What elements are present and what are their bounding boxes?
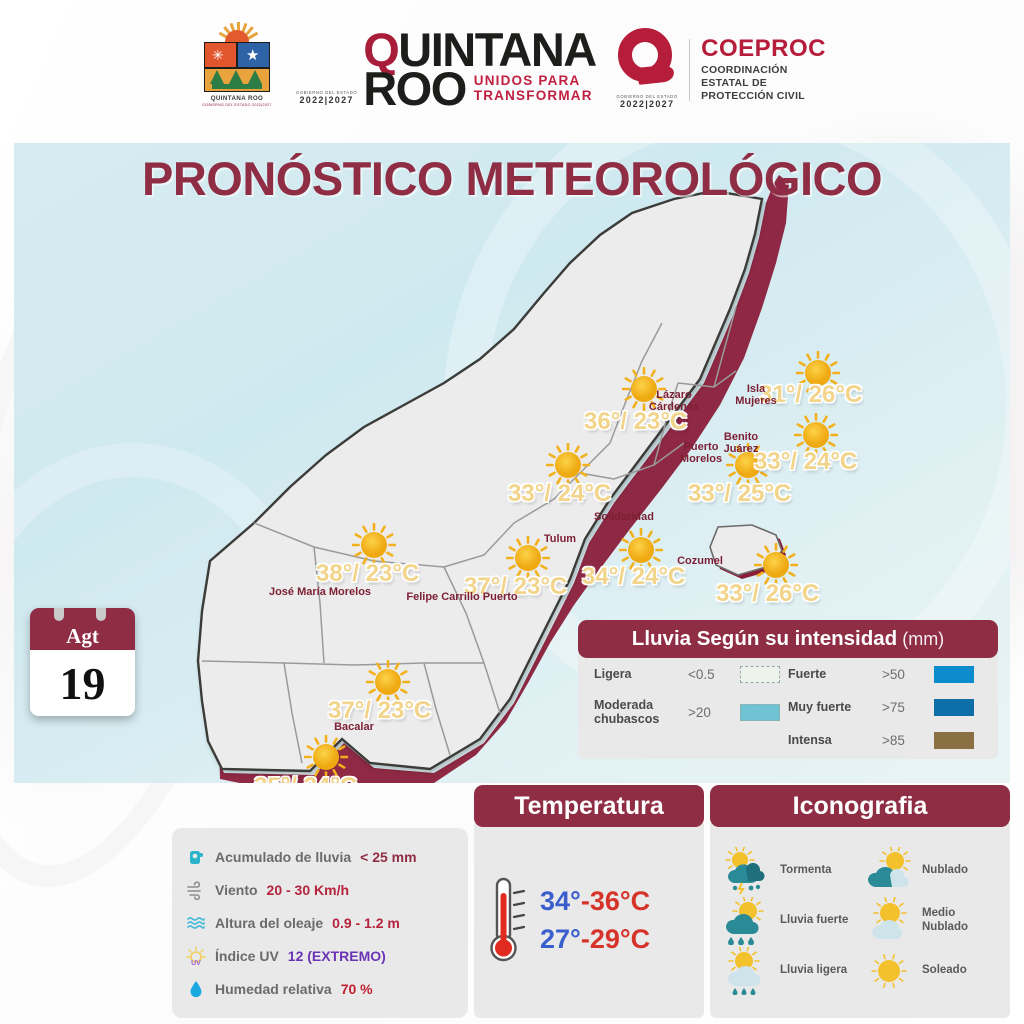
iconography-label: Lluvia fuerte [780, 914, 848, 927]
stat-label: Humedad relativa [215, 981, 332, 997]
wordmark-tag1: UNIDOS PARA [474, 74, 593, 89]
temperature-label: 33°/ 24°C [508, 480, 611, 508]
iconography-item: MedioNublado [862, 897, 1000, 945]
rain-legend-row: Moderadachubascos >20 [594, 699, 788, 727]
temp-row1-sep: - [581, 886, 590, 916]
map-city-label: IslaMujeres [735, 383, 777, 408]
rain-legend-body: Ligera <0.5 Moderadachubascos >20 Fuerte… [578, 654, 998, 759]
iconography-item: Soleado [862, 947, 1000, 995]
quintana-roo-state-seal: ✳ ★ QUINTANA ROO GOBIERNO DEL ESTADO 202… [198, 22, 276, 118]
storm-icon [720, 847, 774, 895]
stat-label: Viento [215, 882, 258, 898]
temperature-label: 34°/ 24°C [582, 563, 685, 591]
temp-row2-low: 27° [540, 924, 581, 954]
thermometer-icon [486, 875, 530, 967]
iconography-panel: Iconografia Tormenta Nublado Lluvia fuer… [710, 785, 1010, 1018]
coeproc-title: COEPROC [701, 37, 826, 61]
stat-value: 20 - 30 Km/h [267, 882, 349, 898]
rain-color-swatch [934, 732, 974, 749]
quintana-roo-wordmark: GOBIERNO DEL ESTADO 2022|2027 QQUINTANAU… [296, 31, 596, 108]
seal-sun-icon [213, 22, 261, 44]
iconography-label: Tormenta [780, 864, 832, 877]
rain-color-swatch [934, 699, 974, 716]
page-title: PRONÓSTICO METEOROLÓGICO [14, 151, 1010, 206]
waves-icon [186, 913, 206, 933]
heavy-rain-icon [720, 897, 774, 945]
trees-icon [210, 70, 262, 84]
city-name: Solidaridad [594, 511, 654, 523]
calendar-ring-right [96, 608, 106, 621]
rain-color-swatch [934, 666, 974, 683]
stat-value: 70 % [341, 981, 373, 997]
rain-level-value: >75 [882, 700, 926, 715]
wind-icon [186, 880, 206, 900]
rain-legend-title: Lluvia Según su intensidad [632, 627, 897, 651]
conch-icon: ✳ [212, 48, 224, 62]
rain-gauge-icon [186, 847, 206, 867]
temperature-label: 35°/ 24°C [254, 773, 357, 783]
header-divider [689, 39, 690, 101]
stat-row: Humedad relativa 70 % [186, 979, 454, 999]
city-name: Cozumel [677, 555, 723, 567]
iconography-label: Soleado [922, 964, 967, 977]
coeproc-q-icon [616, 28, 678, 94]
iconography-label: MedioNublado [922, 907, 968, 933]
coeproc-line1: COORDINACIÓN [701, 64, 826, 77]
map-city-label: Bacalar [334, 721, 374, 733]
stat-row: UV Índice UV 12 (EXTREMO) [186, 946, 454, 966]
rain-color-swatch [740, 666, 780, 683]
temperature-label: 33°/ 26°C [716, 580, 819, 608]
rain-level-label: Muy fuerte [788, 701, 874, 715]
iconography-item: Nublado [862, 847, 1000, 895]
stat-label: Altura del oleaje [215, 915, 323, 931]
temperature-row-2: 27°-29°C [540, 924, 650, 955]
city-name-line1: Isla [735, 383, 777, 395]
gov-stamp-years: 2022|2027 [299, 95, 353, 105]
city-name-line2: Morelos [680, 453, 722, 465]
iconography-header: Iconografia [710, 785, 1010, 827]
rain-level-label: Fuerte [788, 668, 874, 682]
city-name-line1: Benito [724, 431, 759, 443]
rain-legend-header: Lluvia Según su intensidad (mm) [578, 620, 998, 658]
map-city-label: PuertoMorelos [680, 441, 722, 466]
city-name-line1: Puerto [680, 441, 722, 453]
temperature-title: Temperatura [514, 792, 664, 821]
gov-stamp-left: GOBIERNO DEL ESTADO 2022|2027 [296, 90, 357, 109]
temp-row1-high: 36°C [590, 886, 650, 916]
temperature-row-1: 34°-36°C [540, 886, 650, 917]
rain-legend-row: Intensa >85 [788, 732, 982, 749]
city-name: Tulum [544, 533, 576, 545]
stat-value: 12 (EXTREMO) [288, 948, 386, 964]
star-icon: ★ [246, 48, 259, 63]
city-name-line2: Juárez [724, 443, 759, 455]
temperature-label: 38°/ 23°C [316, 560, 419, 588]
stat-label: Acumulado de lluvia [215, 849, 351, 865]
map-city-label: José María Morelos [269, 586, 371, 598]
map-city-label: Felipe Carrillo Puerto [406, 591, 517, 603]
stat-label: Índice UV [215, 948, 279, 964]
rain-intensity-legend: Lluvia Según su intensidad (mm) Ligera <… [578, 620, 998, 768]
map-city-label: Solidaridad [594, 511, 654, 523]
rain-legend-column-left: Ligera <0.5 Moderadachubascos >20 [594, 666, 788, 749]
temperature-body: 34°-36°C 27°-29°C [474, 823, 704, 1018]
stat-row: Altura del oleaje 0.9 - 1.2 m [186, 913, 454, 933]
iconography-item: Tormenta [720, 847, 858, 895]
uv-icon: UV [186, 946, 206, 966]
calendar-day: 19 [60, 657, 106, 710]
temperature-panel: Temperatura 34°-36°C 27°-29°C [474, 785, 704, 1018]
stat-row: Viento 20 - 30 Km/h [186, 880, 454, 900]
temperature-label: 33°/ 25°C [688, 480, 791, 508]
city-name: Bacalar [334, 721, 374, 733]
rain-level-value: >85 [882, 733, 926, 748]
iconography-body: Tormenta Nublado Lluvia fuerte MedioNubl… [710, 823, 1010, 1018]
city-name-line1: Lázaro [649, 389, 699, 401]
stat-row: Acumulado de lluvia < 25 mm [186, 847, 454, 867]
brand-header: ✳ ★ QUINTANA ROO GOBIERNO DEL ESTADO 202… [0, 0, 1024, 140]
coeproc-line3: PROTECCIÓN CIVIL [701, 90, 826, 103]
stat-value: < 25 mm [360, 849, 416, 865]
temp-row1-low: 34° [540, 886, 581, 916]
sunny-icon [862, 947, 916, 995]
iconography-label: Nublado [922, 864, 968, 877]
rain-legend-column-right: Fuerte >50 Muy fuerte >75 Intensa >85 [788, 666, 982, 749]
coeproc-line2: ESTATAL DE [701, 77, 826, 90]
rain-level-value: <0.5 [688, 667, 732, 682]
city-name: Felipe Carrillo Puerto [406, 591, 517, 603]
rain-level-label: Intensa [788, 734, 874, 748]
city-name-line2: Mujeres [735, 395, 777, 407]
rain-legend-row: Fuerte >50 [788, 666, 982, 683]
map-city-label: BenitoJuárez [724, 431, 759, 456]
light-rain-icon [720, 947, 774, 995]
coeproc-logo: GOBIERNO DEL ESTADO 2022|2027 COEPROC CO… [616, 28, 826, 113]
cloudy-icon [862, 847, 916, 895]
calendar-month: Agt [66, 624, 99, 649]
calendar-ring-left [54, 608, 64, 621]
calendar-day-area: 19 [30, 650, 135, 716]
seal-shield-icon: ✳ ★ [204, 22, 270, 92]
humidity-drop-icon [186, 979, 206, 999]
map-city-label: Cozumel [677, 555, 723, 567]
temperature-header: Temperatura [474, 785, 704, 827]
stat-value: 0.9 - 1.2 m [332, 915, 400, 931]
rain-level-value: >50 [882, 667, 926, 682]
rain-level-label: Moderadachubascos [594, 699, 680, 727]
rain-legend-row: Ligera <0.5 [594, 666, 788, 683]
temperature-label: 33°/ 24°C [754, 448, 857, 476]
date-calendar: Agt 19 [30, 608, 135, 716]
seal-subtitle: GOBIERNO DEL ESTADO 2022|2027 [202, 103, 271, 107]
svg-text:UV: UV [191, 960, 201, 966]
gov-stamp-right: GOBIERNO DEL ESTADO 2022|2027 [617, 94, 678, 113]
iconography-item: Lluvia fuerte [720, 897, 858, 945]
wordmark-line2: ROO [363, 70, 466, 109]
rain-legend-unit: (mm) [902, 629, 944, 650]
wordmark-tag2: TRANSFORMAR [474, 89, 593, 104]
iconography-label: Lluvia ligera [780, 964, 847, 977]
partly-cloudy-icon [862, 897, 916, 945]
rain-level-label: Ligera [594, 668, 680, 682]
coeproc-stamp-years: 2022|2027 [620, 99, 674, 109]
city-name: José María Morelos [269, 586, 371, 598]
map-city-label: Tulum [544, 533, 576, 545]
temp-row2-sep: - [581, 924, 590, 954]
rain-level-value: >20 [688, 705, 732, 720]
calendar-month-bar: Agt [30, 608, 135, 650]
seal-title: QUINTANA ROO [211, 95, 264, 102]
iconography-item: Lluvia ligera [720, 947, 858, 995]
city-name-line2: Cárdenas [649, 401, 699, 413]
map-city-label: LázaroCárdenas [649, 389, 699, 414]
temp-row2-high: 29°C [590, 924, 650, 954]
conditions-stats-panel: Acumulado de lluvia < 25 mm Viento 20 - … [172, 828, 468, 1018]
rain-legend-row: Muy fuerte >75 [788, 699, 982, 716]
iconography-title: Iconografia [793, 792, 928, 821]
rain-color-swatch [740, 704, 780, 721]
